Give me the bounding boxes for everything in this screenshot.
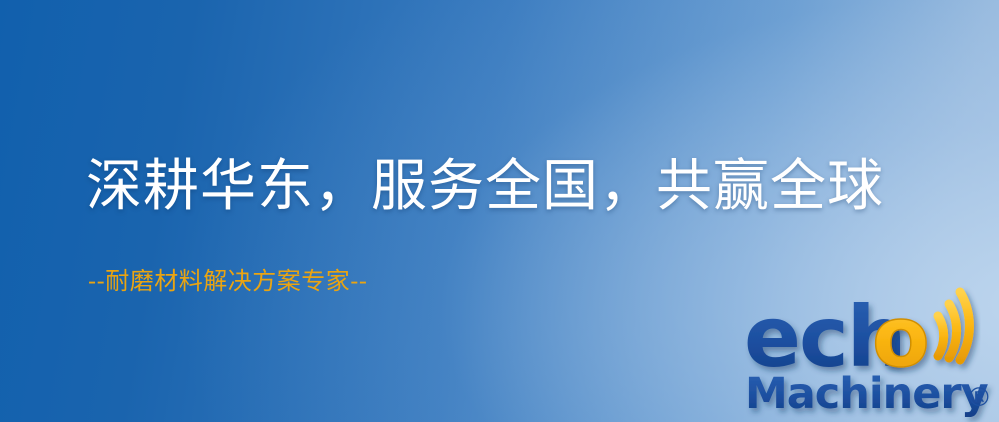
page-subtitle: --耐磨材料解决方案专家-- xyxy=(88,266,367,296)
echo-machinery-logo[interactable]: ech o Machinery ® xyxy=(742,296,999,422)
logo-tagline: Machinery xyxy=(745,369,989,419)
registered-trademark-icon: ® xyxy=(966,383,992,413)
page-title: 深耕华东，服务全国，共赢全球 xyxy=(86,154,884,220)
hero-banner: 深耕华东，服务全国，共赢全球 --耐磨材料解决方案专家-- xyxy=(0,0,999,422)
echo-wave-icon xyxy=(938,292,969,360)
